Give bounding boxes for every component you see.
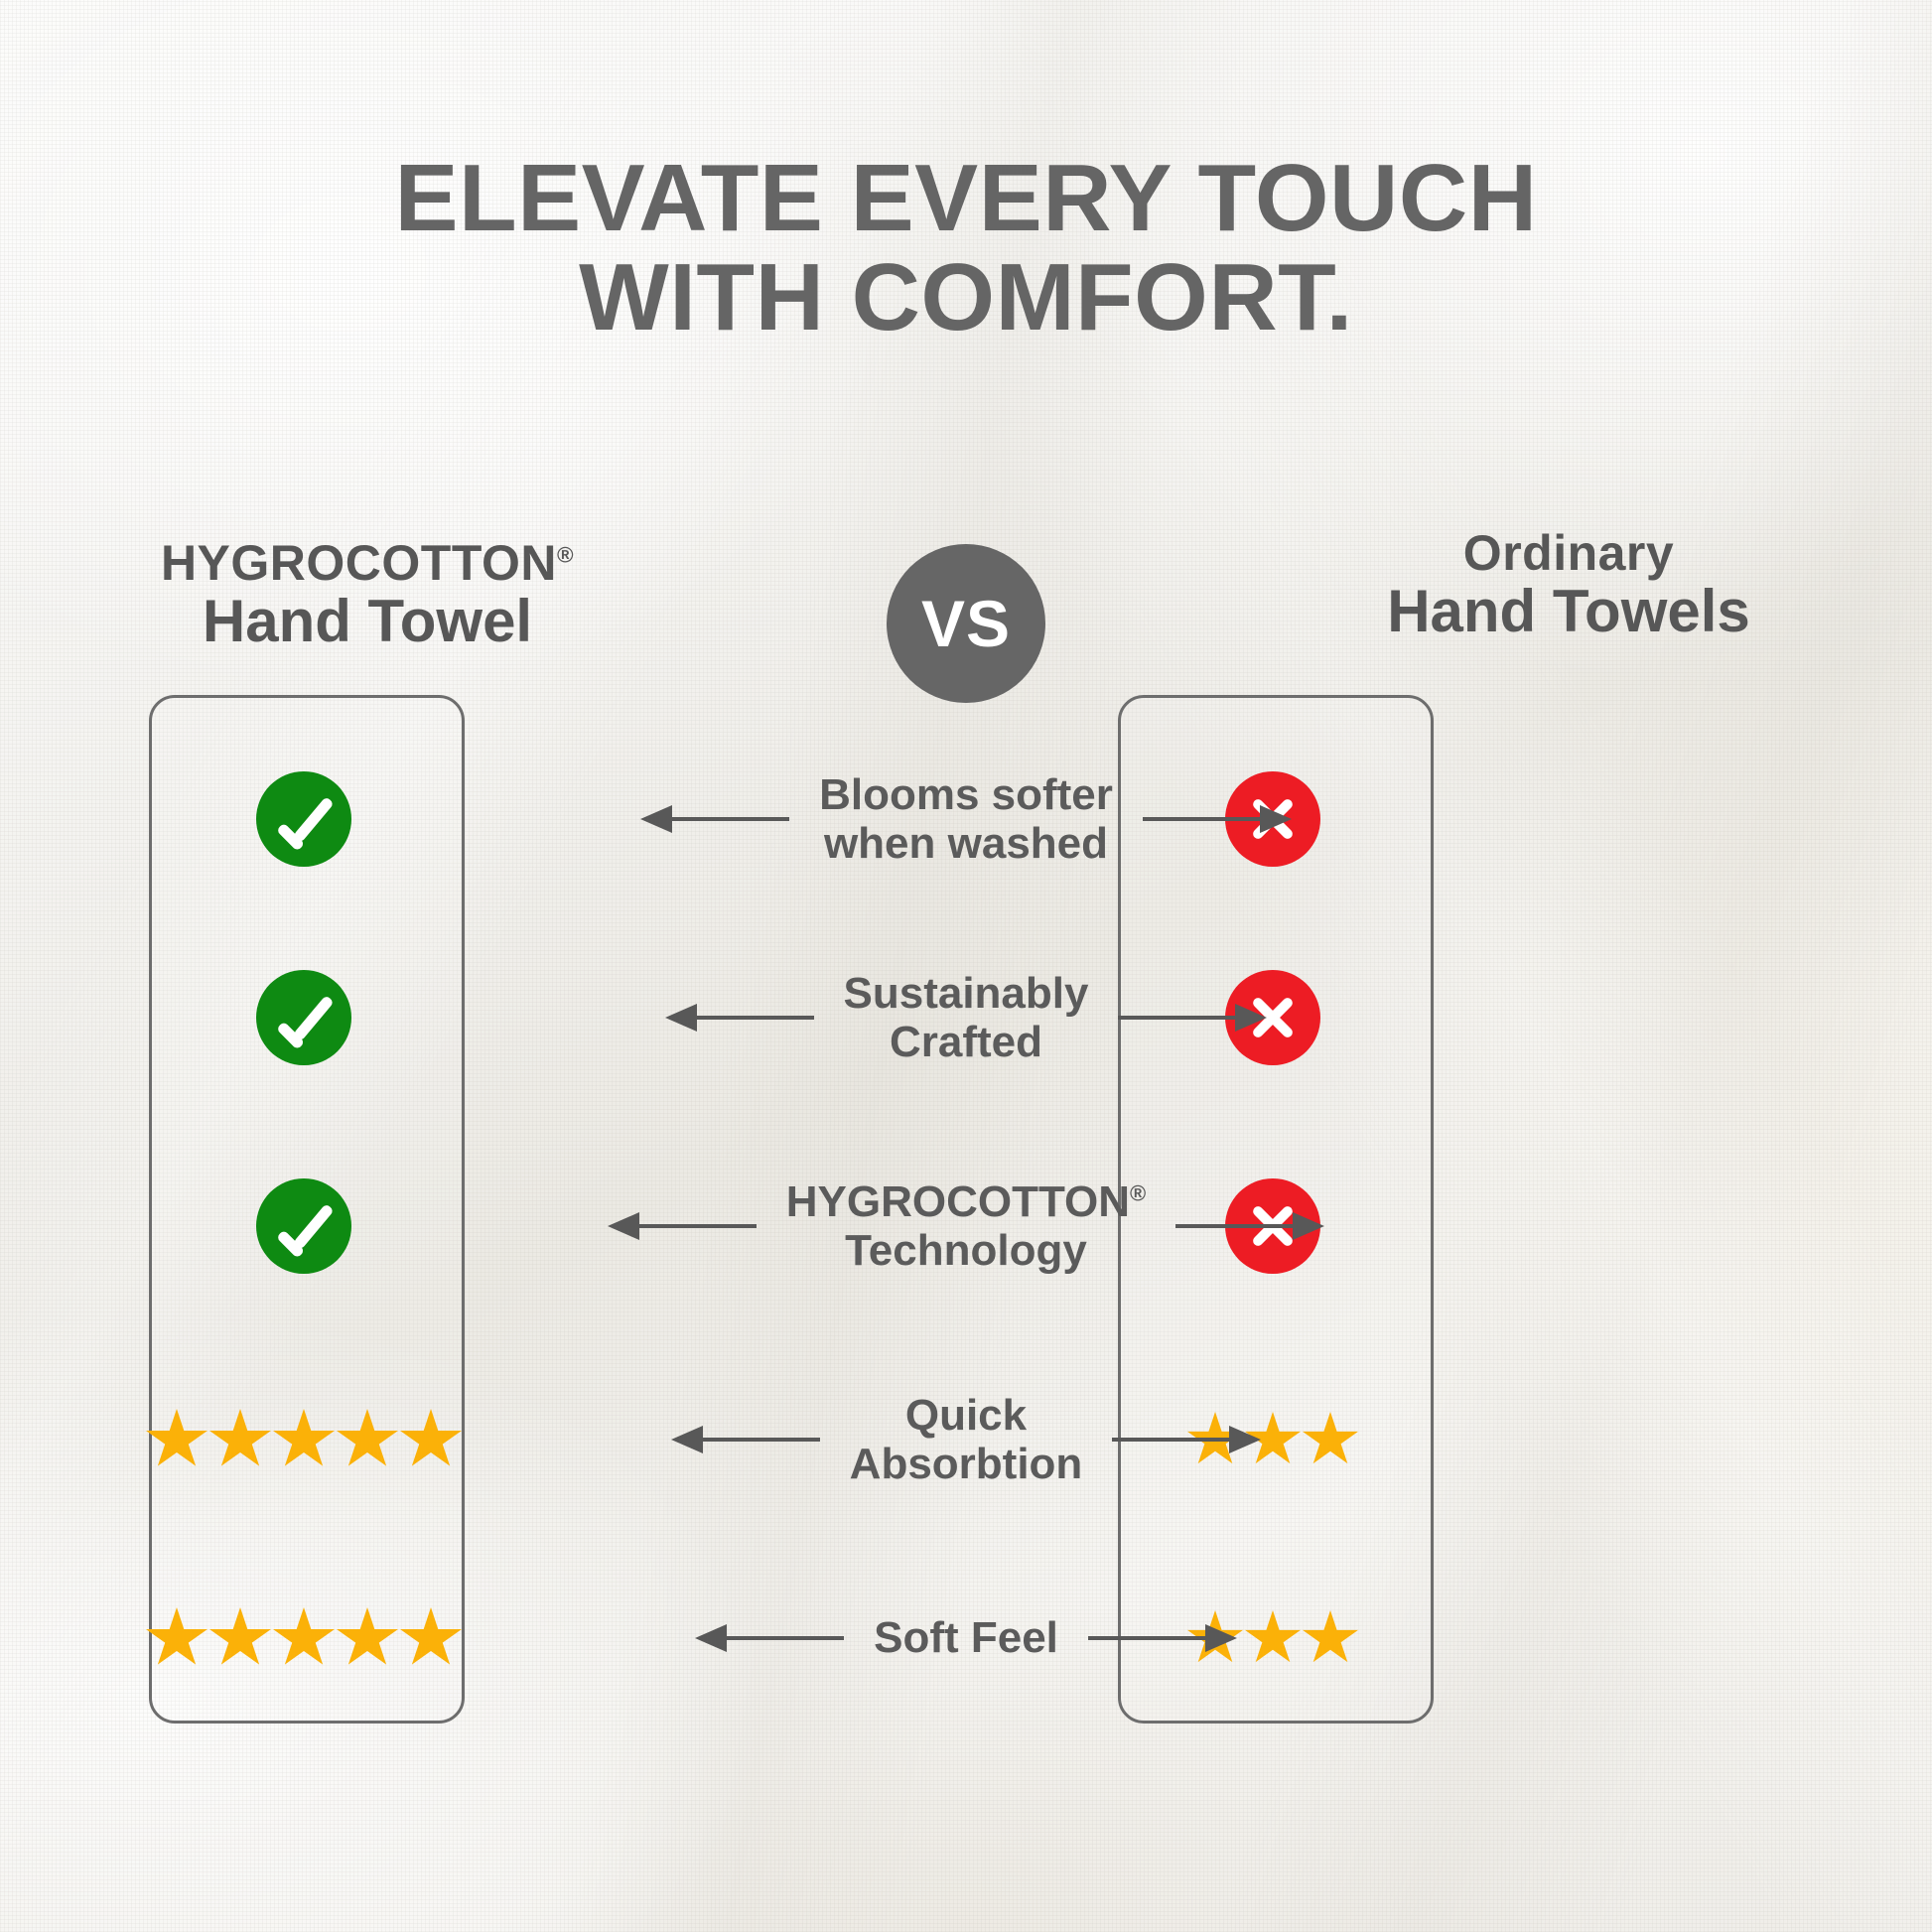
star-icon <box>273 1607 335 1669</box>
column-header-hygrocotton: HYGROCOTTON® Hand Towel <box>79 536 655 654</box>
arrow-left-icon <box>608 1209 757 1243</box>
arrow-shaft <box>1112 1438 1231 1442</box>
arrow-shaft <box>1118 1016 1237 1020</box>
arrow-shaft <box>725 1636 844 1640</box>
row-2-label-line-2: Technology <box>786 1226 1147 1275</box>
star-icon <box>273 1409 335 1470</box>
row-0-label-line-2: when washed <box>819 819 1113 868</box>
star-icon <box>146 1409 207 1470</box>
star-icon <box>400 1409 462 1470</box>
star-icon <box>146 1607 207 1669</box>
arrow-right-icon <box>1118 1001 1267 1035</box>
checkmark-glyph <box>256 970 351 1065</box>
star-rating-left <box>146 1409 462 1470</box>
row-0-label-line-1: Blooms softer <box>819 770 1113 819</box>
column-header-right-line-1: Ordinary <box>1281 526 1857 580</box>
row-2-left-value <box>149 1162 459 1291</box>
star-icon <box>337 1607 398 1669</box>
row-2-label: HYGROCOTTON®Technology <box>786 1177 1147 1276</box>
arrow-left-icon <box>671 1423 820 1456</box>
arrow-head <box>1260 805 1292 833</box>
column-header-left-line-1: HYGROCOTTON® <box>79 536 655 590</box>
row-2-center: HYGROCOTTON®Technology <box>616 1162 1316 1291</box>
arrow-head <box>1229 1426 1261 1453</box>
arrow-head <box>1293 1212 1324 1240</box>
row-3-label-line-2: Absorbtion <box>850 1440 1083 1488</box>
row-3-label: QuickAbsorbtion <box>850 1391 1083 1489</box>
checkmark-glyph <box>256 771 351 867</box>
registered-trademark-icon: ® <box>1130 1180 1146 1205</box>
page-title-line-1: ELEVATE EVERY TOUCH <box>0 149 1932 248</box>
arrow-shaft <box>1175 1224 1295 1228</box>
row-1-label-line-2: Crafted <box>844 1018 1089 1066</box>
row-1-label-line-1: Sustainably <box>844 969 1089 1018</box>
row-4-label-line-1: Soft Feel <box>874 1613 1058 1662</box>
star-icon <box>209 1607 271 1669</box>
arrow-head <box>608 1212 639 1240</box>
row-2-label-line-1: HYGROCOTTON® <box>786 1177 1147 1226</box>
row-3-label-line-1: Quick <box>850 1391 1083 1440</box>
arrow-right-icon <box>1143 802 1292 836</box>
vs-badge: VS <box>887 544 1045 703</box>
column-header-right-line-2: Hand Towels <box>1281 580 1857 644</box>
page-title-line-2: WITH COMFORT. <box>0 248 1932 347</box>
row-1-left-value <box>149 953 459 1082</box>
vs-badge-label: VS <box>921 586 1011 661</box>
infographic-stage: ELEVATE EVERY TOUCH WITH COMFORT. HYGROC… <box>0 0 1932 1932</box>
row-0-center: Blooms softerwhen washed <box>616 755 1316 884</box>
star-icon <box>337 1409 398 1470</box>
row-4-left-value <box>149 1574 459 1703</box>
arrow-right-icon <box>1088 1621 1237 1655</box>
star-rating-left <box>146 1607 462 1669</box>
arrow-left-icon <box>640 802 789 836</box>
row-3-left-value <box>149 1375 459 1504</box>
arrow-head <box>671 1426 703 1453</box>
row-3-center: QuickAbsorbtion <box>616 1375 1316 1504</box>
arrow-head <box>1235 1004 1267 1032</box>
arrow-head <box>640 805 672 833</box>
arrow-shaft <box>695 1016 814 1020</box>
page-title: ELEVATE EVERY TOUCH WITH COMFORT. <box>0 149 1932 347</box>
check-icon <box>256 970 351 1065</box>
column-header-ordinary: Ordinary Hand Towels <box>1281 526 1857 644</box>
check-icon <box>256 1178 351 1274</box>
row-0-label: Blooms softerwhen washed <box>819 770 1113 869</box>
arrow-shaft <box>637 1224 757 1228</box>
arrow-right-icon <box>1175 1209 1324 1243</box>
arrow-head <box>1205 1624 1237 1652</box>
arrow-head <box>665 1004 697 1032</box>
row-1-center: SustainablyCrafted <box>616 953 1316 1082</box>
row-1-label: SustainablyCrafted <box>844 969 1089 1067</box>
registered-trademark-icon: ® <box>557 542 574 567</box>
star-icon <box>209 1409 271 1470</box>
arrow-shaft <box>670 817 789 821</box>
column-header-left-line-2: Hand Towel <box>79 590 655 654</box>
row-4-center: Soft Feel <box>616 1574 1316 1703</box>
arrow-head <box>695 1624 727 1652</box>
arrow-shaft <box>1088 1636 1207 1640</box>
arrow-shaft <box>701 1438 820 1442</box>
arrow-right-icon <box>1112 1423 1261 1456</box>
star-icon <box>400 1607 462 1669</box>
row-4-label: Soft Feel <box>874 1613 1058 1662</box>
arrow-shaft <box>1143 817 1262 821</box>
checkmark-glyph <box>256 1178 351 1274</box>
arrow-left-icon <box>695 1621 844 1655</box>
row-0-left-value <box>149 755 459 884</box>
check-icon <box>256 771 351 867</box>
arrow-left-icon <box>665 1001 814 1035</box>
